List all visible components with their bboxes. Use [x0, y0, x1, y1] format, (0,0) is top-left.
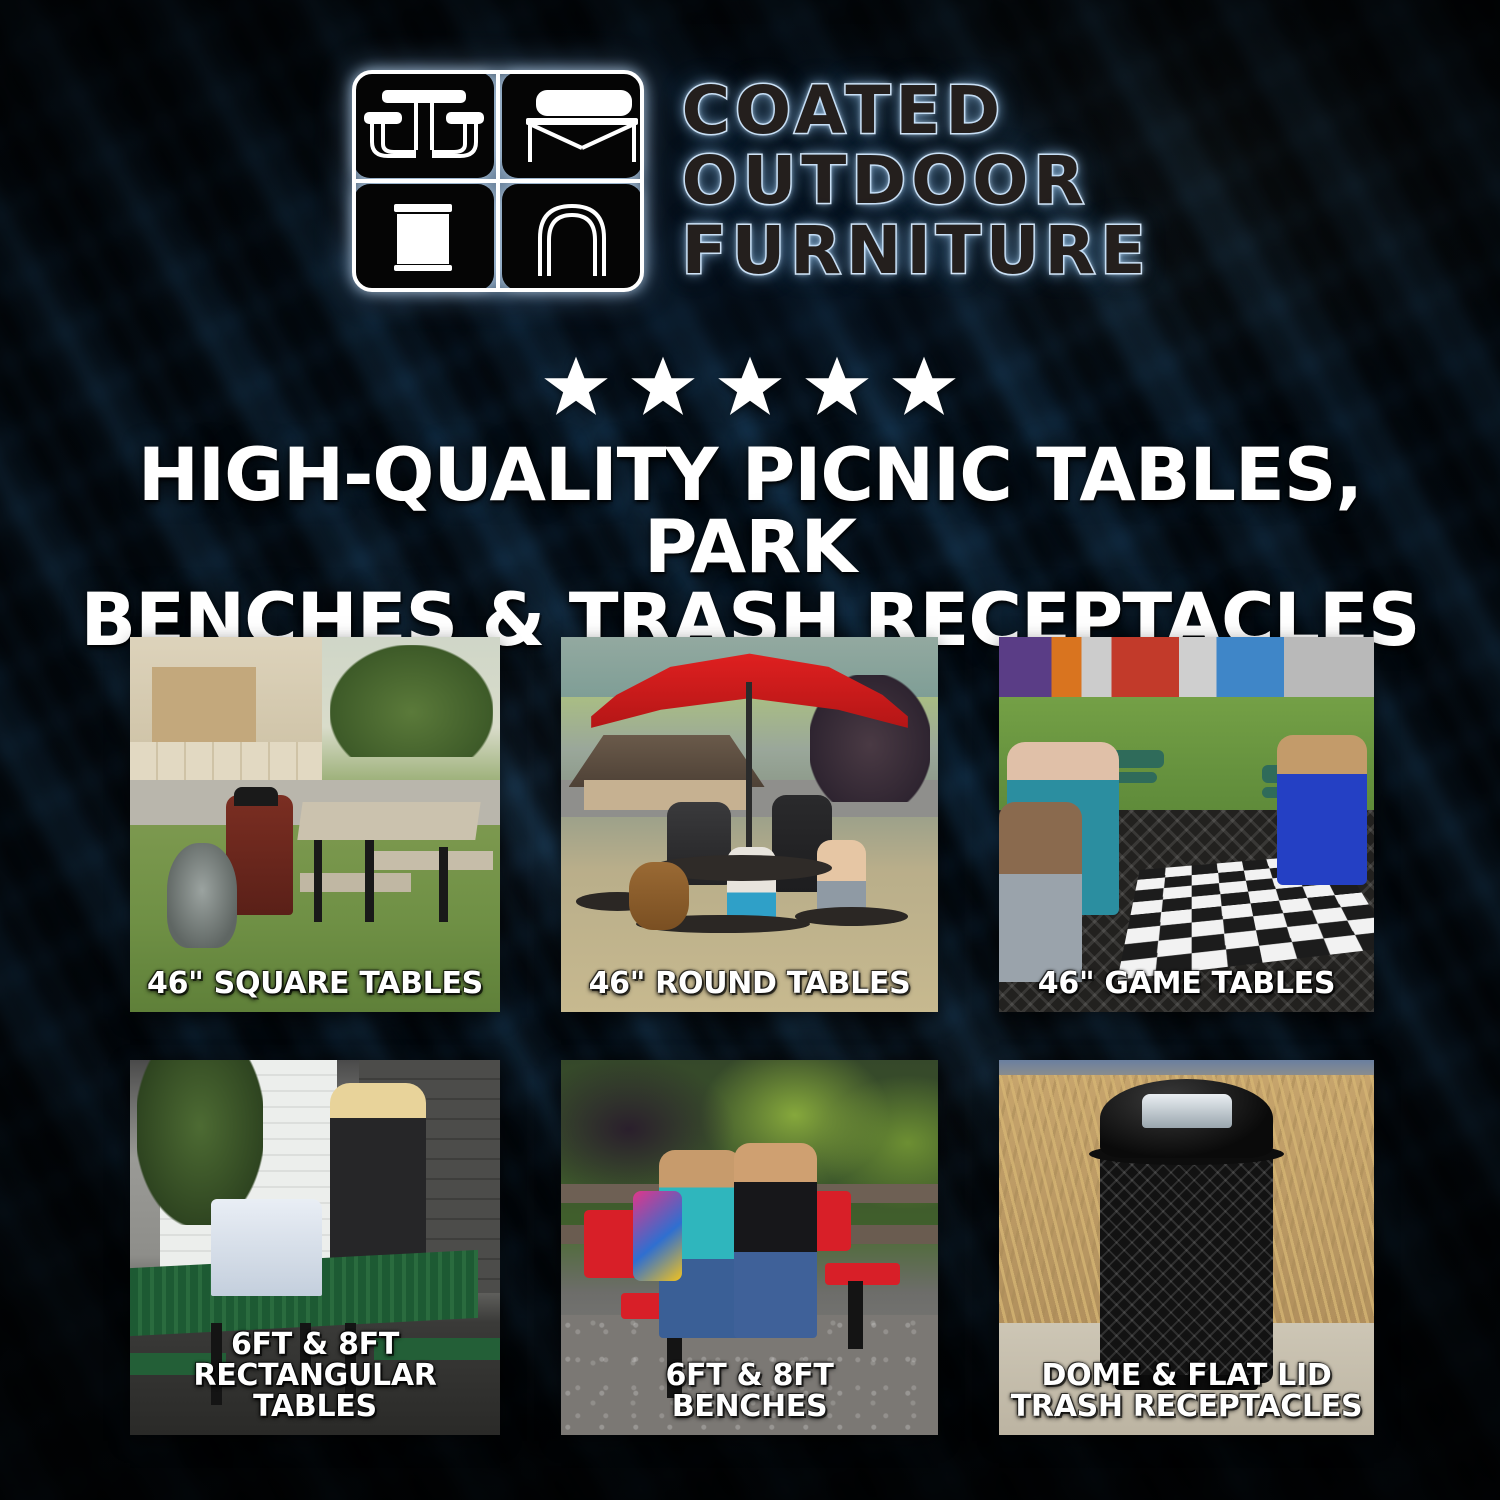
product-tile-rectangular-tables[interactable]: 6FT & 8FT RECTANGULAR TABLES	[130, 1060, 500, 1435]
caption-line-2: TRASH RECEPTACLES	[1005, 1392, 1368, 1423]
star-icon	[539, 352, 613, 422]
caption-line-1: 46" SQUARE TABLES	[147, 966, 483, 1001]
star-icon	[626, 352, 700, 422]
product-tile-caption: 6FT & 8FT RECTANGULAR TABLES	[136, 1330, 494, 1423]
star-icon	[713, 352, 787, 422]
star-icon	[887, 352, 961, 422]
wordmark-line-3: FURNITURE	[682, 218, 1151, 284]
page-headline: HIGH-QUALITY PICNIC TABLES, PARK BENCHES…	[60, 440, 1440, 657]
page-content: COATED OUTDOOR FURNITURE HIGH-QUALITY PI…	[0, 0, 1500, 1500]
furniture-grid-icon	[350, 68, 646, 294]
star-icon	[800, 352, 874, 422]
brand-logo: COATED OUTDOOR FURNITURE	[0, 68, 1500, 294]
caption-line-1: DOME & FLAT LID	[1042, 1358, 1332, 1393]
caption-line-2: BENCHES	[567, 1392, 932, 1423]
caption-line-1: 6FT & 8FT	[665, 1358, 833, 1393]
product-tile-benches[interactable]: 6FT & 8FT BENCHES	[561, 1060, 938, 1435]
product-photo-game-tables	[999, 637, 1374, 1012]
caption-line-2: RECTANGULAR TABLES	[136, 1361, 494, 1423]
wordmark-line-2: OUTDOOR	[682, 148, 1151, 214]
product-tile-square-tables[interactable]: 46" SQUARE TABLES	[130, 637, 500, 1012]
headline-line-1: HIGH-QUALITY PICNIC TABLES, PARK	[138, 433, 1362, 590]
product-tile-caption: 46" GAME TABLES	[1005, 969, 1368, 1000]
wordmark-line-1: COATED	[682, 78, 1151, 144]
caption-line-1: 46" GAME TABLES	[1038, 966, 1335, 1001]
product-tile-caption: DOME & FLAT LID TRASH RECEPTACLES	[1005, 1361, 1368, 1423]
product-tile-trash-receptacles[interactable]: DOME & FLAT LID TRASH RECEPTACLES	[999, 1060, 1374, 1435]
product-category-grid: 46" SQUARE TABLES 46" ROUND TABLES	[130, 637, 1375, 1435]
product-tile-caption: 46" ROUND TABLES	[567, 969, 932, 1000]
star-rating	[0, 352, 1500, 422]
product-tile-caption: 6FT & 8FT BENCHES	[567, 1361, 932, 1423]
product-tile-game-tables[interactable]: 46" GAME TABLES	[999, 637, 1374, 1012]
product-tile-round-tables[interactable]: 46" ROUND TABLES	[561, 637, 938, 1012]
product-photo-round-tables	[561, 637, 938, 1012]
product-photo-square-tables	[130, 637, 500, 1012]
caption-line-1: 46" ROUND TABLES	[589, 966, 911, 1001]
brand-wordmark: COATED OUTDOOR FURNITURE	[682, 78, 1151, 284]
product-tile-caption: 46" SQUARE TABLES	[136, 969, 494, 1000]
